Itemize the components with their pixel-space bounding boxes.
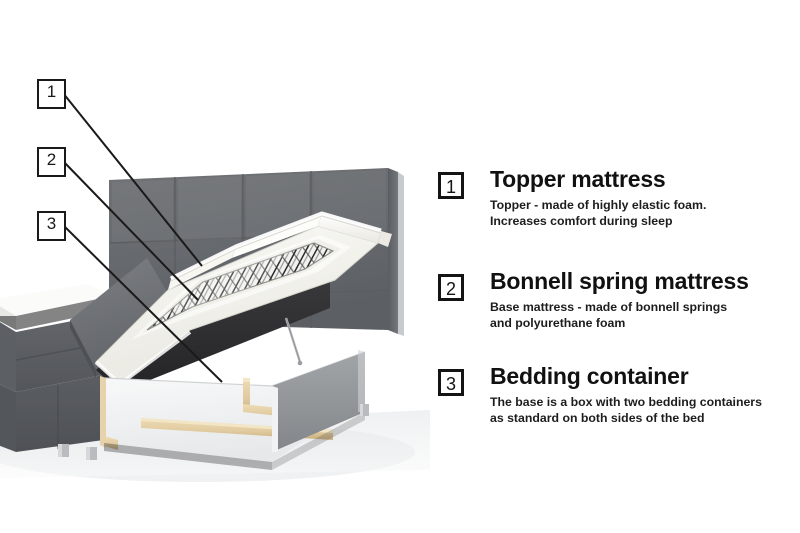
- callout-number-2[interactable]: 2: [37, 147, 66, 177]
- legend-item-bonnell-spring-mattress: 2 Bonnell spring mattress Base mattress …: [432, 268, 800, 331]
- legend-body: Bedding container The base is a box with…: [490, 363, 800, 426]
- legend-title-1: Topper mattress: [490, 166, 800, 192]
- callout-number-1[interactable]: 1: [37, 79, 66, 109]
- legend-body: Bonnell spring mattress Base mattress - …: [490, 268, 800, 331]
- callout-number-3[interactable]: 3: [37, 211, 66, 241]
- legend-number-2: 2: [438, 274, 464, 301]
- legend-number-1: 1: [438, 172, 464, 199]
- legend-description-2: Base mattress - made of bonnell springs …: [490, 300, 800, 331]
- legend-item-bedding-container: 3 Bedding container The base is a box wi…: [432, 363, 800, 426]
- diagram-page: 1 2 3 1 Topper mattress Topper - made of…: [0, 0, 800, 533]
- legend-panel: 1 Topper mattress Topper - made of highl…: [432, 0, 800, 533]
- legend-number-3: 3: [438, 369, 464, 396]
- legend-title-3: Bedding container: [490, 363, 800, 389]
- legend-description-1: Topper - made of highly elastic foam. In…: [490, 198, 800, 229]
- legend-body: Topper mattress Topper - made of highly …: [490, 166, 800, 229]
- legend-item-topper-mattress: 1 Topper mattress Topper - made of highl…: [432, 166, 800, 229]
- legend-description-3: The base is a box with two bedding conta…: [490, 395, 800, 426]
- legend-title-2: Bonnell spring mattress: [490, 268, 800, 294]
